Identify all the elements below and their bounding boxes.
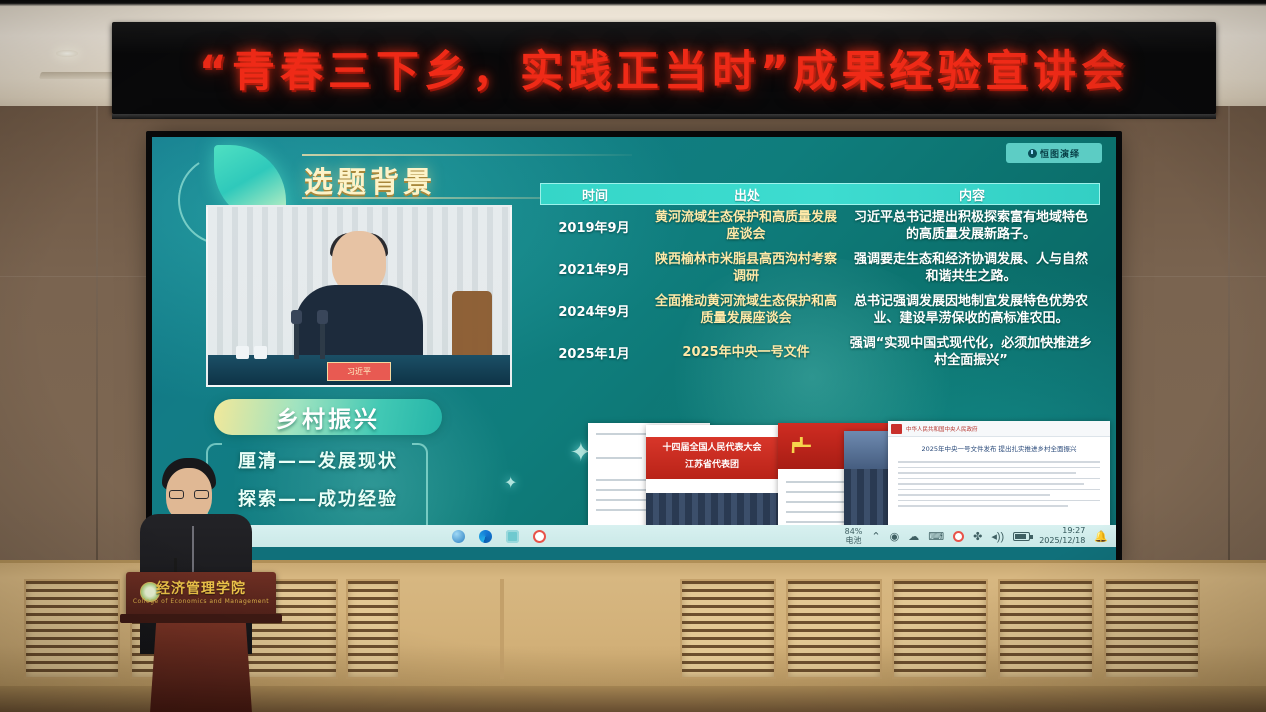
row-time: 2025年1月 (540, 343, 648, 362)
projection-screen: 选题背景 恒图演绎 习近平 (152, 137, 1116, 569)
volume-icon[interactable]: ◂)) (991, 530, 1004, 543)
lectern-top: 经济管理学院 College of Economics and Manageme… (126, 572, 276, 614)
rural-revitalization-pill: 乡村振兴 (214, 399, 442, 435)
leader-meeting-photo: 习近平 (206, 205, 512, 387)
clock-date: 2025/12/18 (1039, 536, 1085, 546)
wall-vent-panel (1104, 579, 1200, 679)
wall-vent-panel (24, 579, 120, 679)
led-banner-trim (112, 114, 1216, 119)
gov-body-text (898, 461, 1100, 511)
row-content: 强调“实现中国式现代化，必须加快推进乡村全面振兴” (844, 335, 1098, 369)
lectern-sign-text: 经济管理学院 (126, 578, 276, 598)
list-item: 探索——成功经验 (238, 485, 398, 511)
row-content: 习近平总书记提出积极探索富有地域特色的高质量发展新路子。 (844, 209, 1098, 243)
gov-site-header: 中华人民共和国中央人民政府 (888, 421, 1110, 437)
notification-bell-icon[interactable]: 🔔 (1094, 530, 1108, 543)
row-time: 2019年9月 (540, 217, 648, 236)
lectern: 经济管理学院 College of Economics and Manageme… (126, 572, 276, 712)
table-header-time: 时间 (541, 185, 649, 204)
red-banner: 十四届全国人民代表大会 江苏省代表团 (646, 437, 778, 479)
slide-watermark-badge: 恒图演绎 (1006, 143, 1102, 163)
clock[interactable]: 19:27 2025/12/18 (1039, 526, 1085, 546)
row-source: 黄河流域生态保护和高质量发展座谈会 (648, 209, 844, 243)
party-emblem-icon (790, 435, 812, 455)
table-header-row: 时间 出处 内容 (540, 183, 1100, 205)
ceiling-light (56, 50, 78, 57)
sogou-tray-icon[interactable] (953, 531, 964, 542)
battery-status[interactable]: 84% 电池 (845, 527, 863, 545)
banner-line-2: 江苏省代表团 (646, 454, 778, 471)
chevron-up-icon[interactable]: ⌃ (871, 530, 880, 543)
table-row: 2024年9月 全面推动黄河流域生态保护和高质量发展座谈会 总书记强调发展因地制… (540, 289, 1100, 331)
timeline-table: 时间 出处 内容 2019年9月 黄河流域生态保护和高质量发展座谈会 习近平总书… (540, 183, 1100, 373)
onedrive-cloud-icon[interactable]: ☁ (908, 530, 919, 543)
glasses-icon (169, 490, 209, 499)
row-time: 2024年9月 (540, 301, 648, 320)
edge-browser-icon[interactable] (479, 530, 492, 543)
bluetooth-icon[interactable]: ✤ (973, 530, 982, 543)
row-content: 总书记强调发展因地制宜发展特色优势农业、建设旱涝保收的高标准农田。 (844, 293, 1098, 327)
taskbar-system-tray[interactable]: 84% 电池 ⌃ ◉ ☁ ⌨ ✤ ◂)) 19:27 2025/12/18 � (845, 526, 1116, 546)
sogou-input-icon[interactable] (533, 530, 546, 543)
conference-hall-scene: “青春三下乡，实践正当时”成果经验宣讲会 选题背景 恒图演绎 (0, 0, 1266, 712)
sparkle-icon: ✦ (504, 473, 517, 493)
pill-label: 乡村振兴 (276, 400, 380, 434)
wall-vent-panel (786, 579, 882, 679)
wall-vent-panel (998, 579, 1094, 679)
presentation-slide: 选题背景 恒图演绎 习近平 (152, 137, 1116, 547)
table-row: 2019年9月 黄河流域生态保护和高质量发展座谈会 习近平总书记提出积极探索富有… (540, 205, 1100, 247)
table-header-content: 内容 (845, 185, 1099, 204)
network-icon[interactable]: ⌨ (928, 530, 944, 543)
windows-taskbar[interactable]: 体 84% 电池 ⌃ ◉ ☁ ⌨ (152, 525, 1116, 547)
gov-headline: 2025年中央一号文件发布 提出扎实推进乡村全面振兴 (888, 443, 1110, 453)
clock-time: 19:27 (1039, 526, 1085, 536)
globe-icon[interactable] (452, 530, 465, 543)
lectern-body (150, 623, 252, 712)
table-row: 2025年1月 2025年中央一号文件 强调“实现中国式现代化，必须加快推进乡村… (540, 331, 1100, 373)
power-icon (1028, 149, 1037, 158)
wall-vent-panel (892, 579, 988, 679)
row-content: 强调要走生态和经济协调发展、人与自然和谐共生之路。 (844, 251, 1098, 285)
led-banner-text: “青春三下乡，实践正当时”成果经验宣讲会 (112, 37, 1216, 99)
banner-line-1: 十四届全国人民代表大会 (646, 437, 778, 454)
taskbar-app-icons[interactable] (452, 530, 546, 543)
battery-label: 电池 (845, 536, 863, 545)
wall-vent-panel (346, 579, 400, 679)
gov-site-name: 中华人民共和国中央人民政府 (906, 425, 978, 433)
lectern-sign-subtext: College of Economics and Management (126, 598, 276, 605)
title-rule-top (302, 154, 632, 156)
table-header-source: 出处 (649, 185, 845, 204)
webcam-icon[interactable]: ◉ (890, 530, 900, 543)
photo-nameplate: 习近平 (327, 362, 391, 381)
table-row: 2021年9月 陕西榆林市米脂县高西沟村考察调研 强调要走生态和经济协调发展、人… (540, 247, 1100, 289)
wall-vent-panel (500, 579, 504, 679)
slide-watermark-text: 恒图演绎 (1040, 147, 1080, 160)
led-banner-display: “青春三下乡，实践正当时”成果经验宣讲会 (112, 22, 1216, 114)
battery-percent: 84% (845, 527, 863, 536)
list-item: 厘清——发展现状 (238, 447, 398, 473)
battery-icon[interactable] (1013, 532, 1030, 541)
row-source: 2025年中央一号文件 (648, 344, 844, 361)
settings-gear-icon[interactable] (506, 530, 519, 543)
wall-vent-panel (680, 579, 776, 679)
slide-title: 选题背景 (304, 159, 436, 201)
row-source: 陕西榆林市米脂县高西沟村考察调研 (648, 251, 844, 285)
row-source: 全面推动黄河流域生态保护和高质量发展座谈会 (648, 293, 844, 327)
row-time: 2021年9月 (540, 259, 648, 278)
national-emblem-icon (891, 424, 902, 434)
